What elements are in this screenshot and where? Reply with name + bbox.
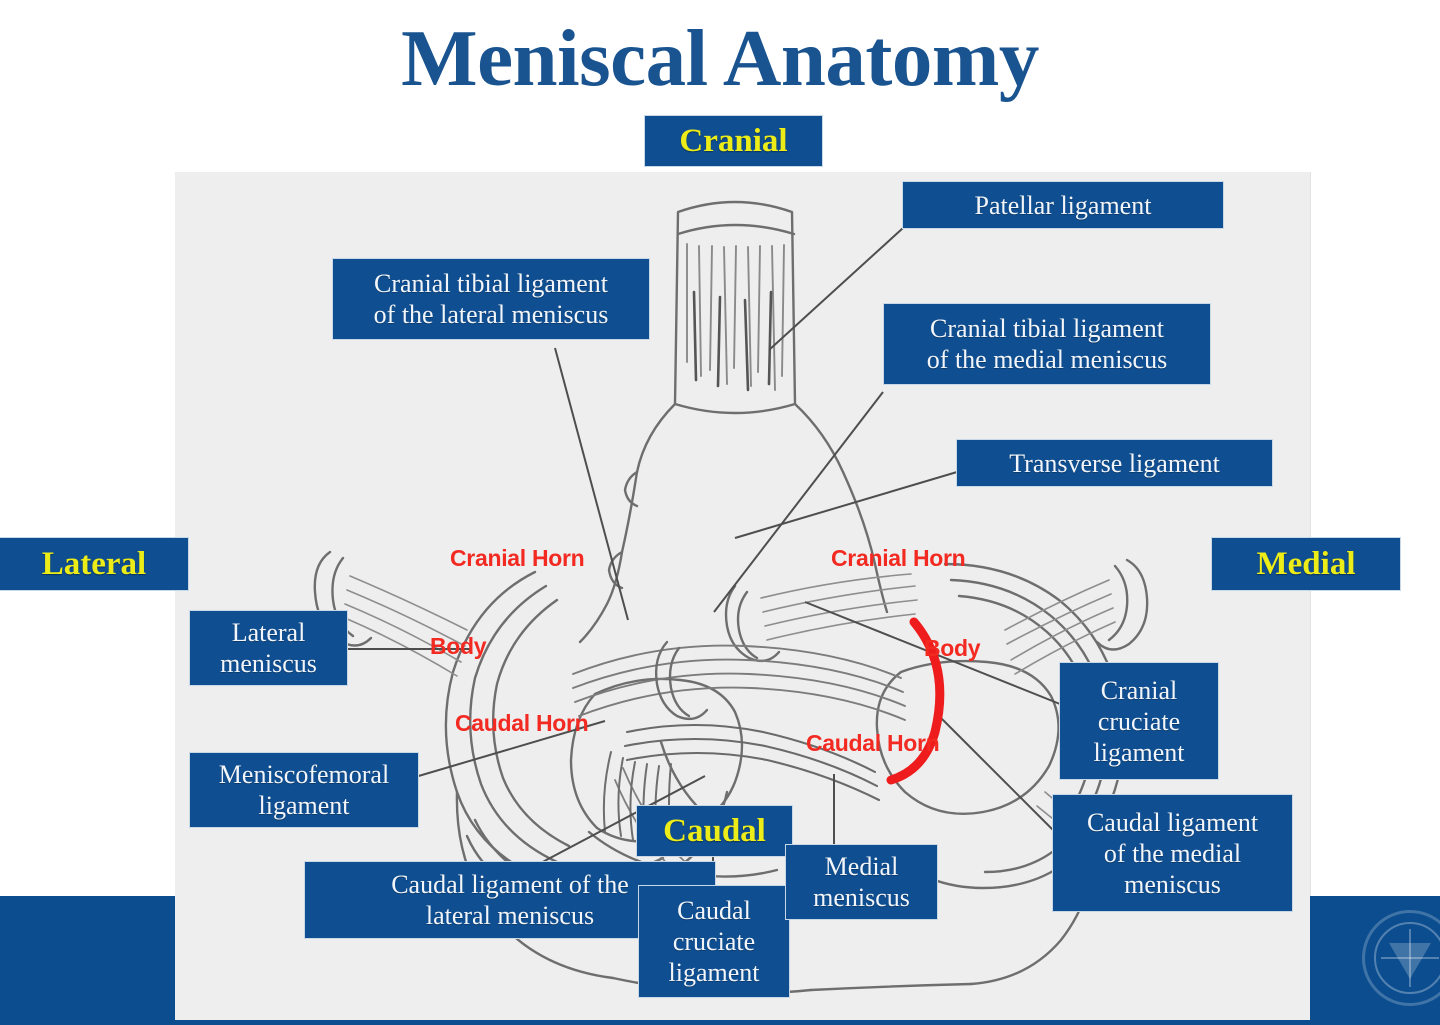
anatomy-label-body-medial: Body bbox=[924, 635, 980, 661]
orientation-label-medial: Medial bbox=[1212, 538, 1400, 590]
page-title: Meniscal Anatomy bbox=[0, 12, 1440, 104]
anatomy-label-body-lateral: Body bbox=[430, 633, 486, 659]
callout-lateral-meniscus: Lateral meniscus bbox=[190, 611, 347, 685]
callout-caudal-ligament-medial-meniscus: Caudal ligament of the medial meniscus bbox=[1053, 795, 1292, 911]
anatomy-label-cranial-horn-lateral: Cranial Horn bbox=[450, 545, 584, 571]
footer-bar-left bbox=[0, 896, 175, 1021]
orientation-label-lateral: Lateral bbox=[0, 538, 188, 590]
callout-cranial-tibial-ligament-lateral-meniscus: Cranial tibial ligament of the lateral m… bbox=[333, 259, 649, 339]
callout-cranial-cruciate-ligament: Cranial cruciate ligament bbox=[1060, 663, 1218, 779]
orientation-label-cranial: Cranial bbox=[645, 116, 822, 166]
callout-medial-meniscus: Medial meniscus bbox=[786, 845, 937, 919]
callout-caudal-cruciate-ligament: Caudal cruciate ligament bbox=[639, 886, 789, 997]
leader-patellar bbox=[769, 228, 903, 350]
footer-rule bbox=[0, 1020, 1440, 1025]
callout-transverse-ligament: Transverse ligament bbox=[957, 440, 1272, 486]
footer-bar-right bbox=[1310, 896, 1440, 1021]
anatomy-label-cranial-horn-medial: Cranial Horn bbox=[831, 545, 965, 571]
seal-triangle bbox=[1389, 943, 1431, 979]
callout-meniscofemoral-ligament: Meniscofemoral ligament bbox=[190, 753, 418, 827]
institution-seal-icon bbox=[1362, 910, 1440, 1006]
leader-ctl-lateral bbox=[555, 348, 628, 620]
orientation-label-caudal: Caudal bbox=[637, 806, 792, 856]
callout-patellar-ligament: Patellar ligament bbox=[903, 182, 1223, 228]
callout-cranial-tibial-ligament-medial-meniscus: Cranial tibial ligament of the medial me… bbox=[884, 304, 1210, 384]
slide-canvas: Meniscal Anatomy bbox=[0, 0, 1440, 1025]
leader-transverse bbox=[735, 472, 957, 538]
anatomy-label-caudal-horn-lateral: Caudal Horn bbox=[455, 710, 588, 736]
anatomy-label-caudal-horn-medial: Caudal Horn bbox=[806, 730, 939, 756]
